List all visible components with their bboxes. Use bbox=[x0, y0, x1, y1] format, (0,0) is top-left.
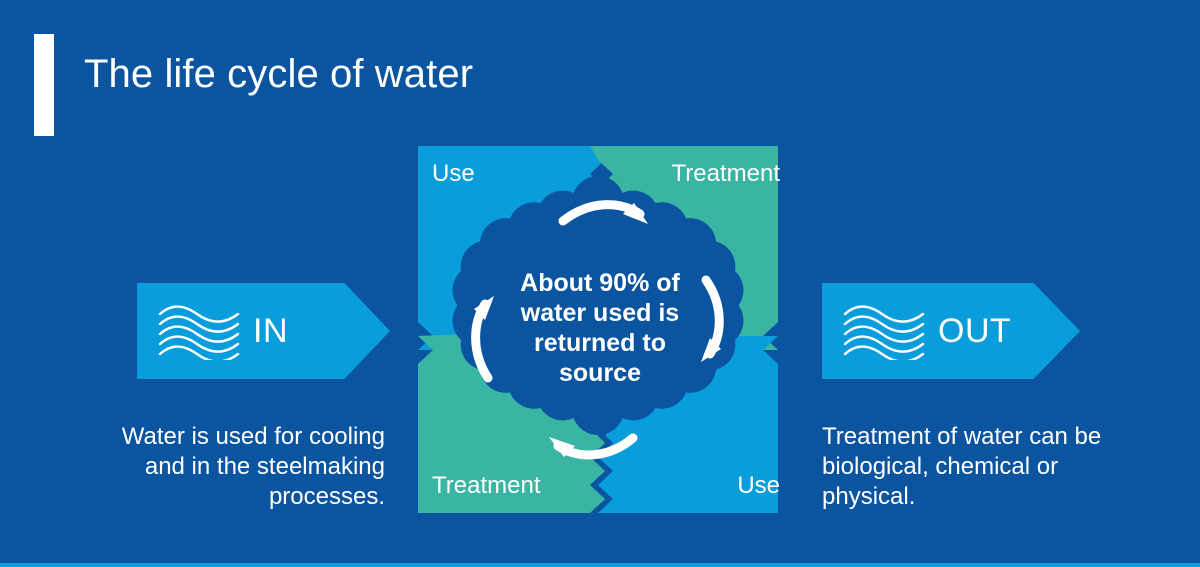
quadrant-label-bottom-right: Use bbox=[737, 474, 780, 498]
caption-left: Water is used for cooling and in the ste… bbox=[100, 422, 385, 512]
quadrant-label-top-right: Treatment bbox=[672, 162, 780, 186]
water-waves-icon bbox=[157, 302, 241, 360]
quadrant-label-top-left: Use bbox=[432, 162, 475, 186]
page-title: The life cycle of water bbox=[84, 52, 784, 96]
bottom-accent-strip bbox=[0, 563, 1200, 567]
banner-out-label: OUT bbox=[938, 312, 1011, 351]
cycle-center-statement: About 90% of water used is returned to s… bbox=[498, 268, 702, 388]
water-waves-icon bbox=[842, 302, 926, 360]
infographic-canvas: The life cycle of water IN OUT bbox=[0, 0, 1200, 567]
banner-in: IN bbox=[137, 283, 390, 379]
caption-right: Treatment of water can be biological, ch… bbox=[822, 422, 1112, 512]
quadrant-label-bottom-left: Treatment bbox=[432, 474, 540, 498]
title-accent-bar bbox=[34, 34, 54, 136]
banner-in-label: IN bbox=[253, 312, 288, 351]
banner-out: OUT bbox=[822, 283, 1080, 379]
